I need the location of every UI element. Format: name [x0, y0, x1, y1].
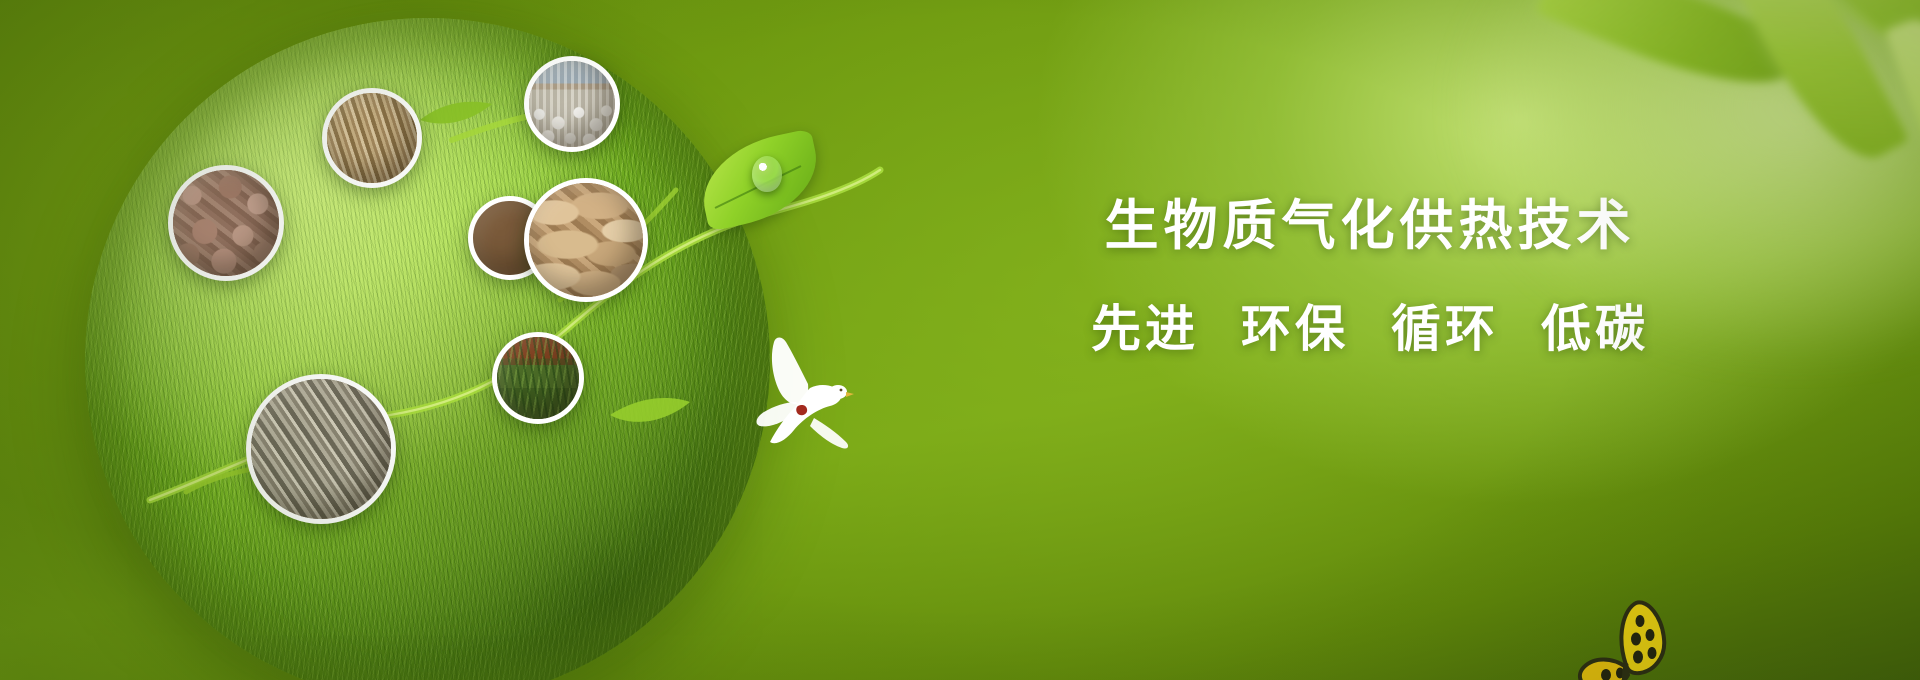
globe-blend-mask [85, 18, 770, 680]
water-drop [752, 156, 782, 192]
subtitle-item-3: 循环 [1391, 289, 1499, 361]
subtitle-item-4: 低碳 [1541, 289, 1649, 361]
banner-headline: 生物质气化供热技术 [1060, 195, 1680, 259]
flying-dove-icon [752, 330, 872, 460]
dew-leaf-icon [700, 140, 820, 220]
thumb-shading [497, 337, 579, 419]
thumb-bark-chips[interactable] [168, 165, 284, 281]
thumb-shading [327, 93, 417, 183]
thumb-sorghum-field[interactable] [492, 332, 584, 424]
thumb-shading [251, 379, 391, 519]
thumb-shading [529, 183, 643, 297]
subtitle-item-2: 环保 [1241, 289, 1349, 361]
subtitle-item-1: 先进 [1091, 289, 1199, 361]
thumb-branch-chips[interactable] [246, 374, 396, 524]
biomass-hero-banner: 生物质气化供热技术 先进 环保 循环 低碳 [0, 0, 1920, 680]
banner-subtitle: 先进 环保 循环 低碳 [1060, 289, 1680, 361]
thumb-peanut-shells[interactable] [524, 178, 648, 302]
banner-copy: 生物质气化供热技术 先进 环保 循环 低碳 [1060, 195, 1680, 361]
yellow-butterfly-icon [1570, 595, 1690, 680]
thumb-cotton-field[interactable] [524, 56, 620, 152]
thumb-dried-straw[interactable] [322, 88, 422, 188]
thumb-shading [529, 61, 615, 147]
thumb-shading [173, 170, 279, 276]
